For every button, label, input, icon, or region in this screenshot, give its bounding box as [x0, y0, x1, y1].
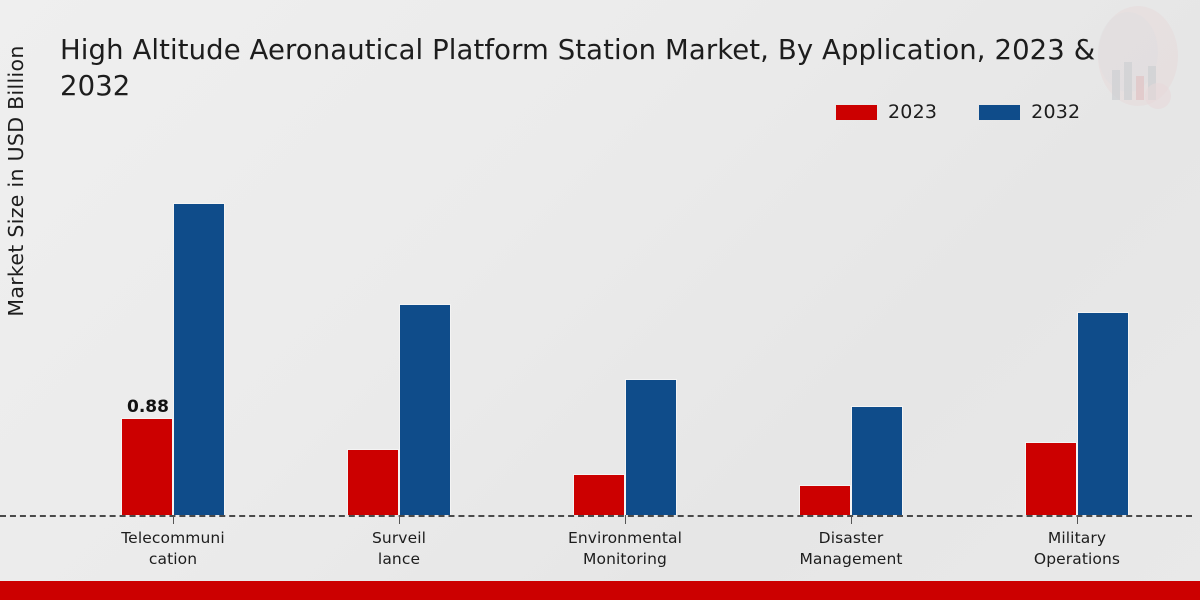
x-axis-label-4: MilitaryOperations [964, 515, 1190, 569]
x-axis-label-line: Disaster [738, 528, 964, 549]
x-axis-tick [625, 515, 626, 524]
x-axis-label-line: Surveil [286, 528, 512, 549]
x-axis-label-3: DisasterManagement [738, 515, 964, 569]
chart-container: High Altitude Aeronautical Platform Stat… [0, 0, 1200, 600]
bar-group: 0.88 [60, 140, 286, 515]
bar-2023[interactable] [799, 485, 851, 515]
bar-groups: 0.88 [60, 140, 1190, 515]
bar-2023[interactable]: 0.88 [121, 418, 173, 515]
legend-label-2032: 2032 [1031, 101, 1080, 123]
x-axis-label-line: Monitoring [512, 549, 738, 570]
bar-value-label: 0.88 [122, 397, 174, 417]
bar-2032[interactable] [1077, 312, 1129, 515]
x-axis-label-1: Surveillance [286, 515, 512, 569]
x-axis-label-line: Operations [964, 549, 1190, 570]
bar-pair [347, 304, 451, 515]
x-axis-label-line: cation [60, 549, 286, 570]
bar-group [286, 140, 512, 515]
footer-accent-bar [0, 581, 1200, 600]
bar-group [738, 140, 964, 515]
bar-2032[interactable] [625, 379, 677, 515]
legend-item-2023[interactable]: 2023 [836, 101, 937, 123]
x-axis-tick [1077, 515, 1078, 524]
x-axis-categories: TelecommunicationSurveillanceEnvironment… [60, 515, 1190, 569]
x-axis-tick [851, 515, 852, 524]
x-axis-label-2: EnvironmentalMonitoring [512, 515, 738, 569]
bar-2032[interactable] [851, 406, 903, 515]
x-axis-label-line: Environmental [512, 528, 738, 549]
x-axis-tick [399, 515, 400, 524]
legend-swatch-2023 [836, 105, 877, 120]
bar-group [512, 140, 738, 515]
x-axis-label-line: lance [286, 549, 512, 570]
x-axis-label-line: Management [738, 549, 964, 570]
bar-2023[interactable] [1025, 442, 1077, 515]
bar-2023[interactable] [573, 474, 625, 515]
x-axis-label-0: Telecommunication [60, 515, 286, 569]
x-axis-label-line: Telecommuni [60, 528, 286, 549]
y-axis-title: Market Size in USD Billion [4, 0, 38, 481]
legend-item-2032[interactable]: 2032 [979, 101, 1080, 123]
bar-pair: 0.88 [121, 203, 225, 515]
bar-2032[interactable] [173, 203, 225, 515]
legend-swatch-2032 [979, 105, 1020, 120]
x-axis-label-line: Military [964, 528, 1190, 549]
bar-pair [799, 406, 903, 515]
legend-label-2023: 2023 [888, 101, 937, 123]
chart-legend: 2023 2032 [836, 101, 1080, 123]
bar-2032[interactable] [399, 304, 451, 515]
bar-group [964, 140, 1190, 515]
bar-2023[interactable] [347, 449, 399, 515]
x-axis-tick [173, 515, 174, 524]
bar-pair [573, 379, 677, 515]
bar-pair [1025, 312, 1129, 515]
chart-title: High Altitude Aeronautical Platform Stat… [60, 32, 1170, 105]
